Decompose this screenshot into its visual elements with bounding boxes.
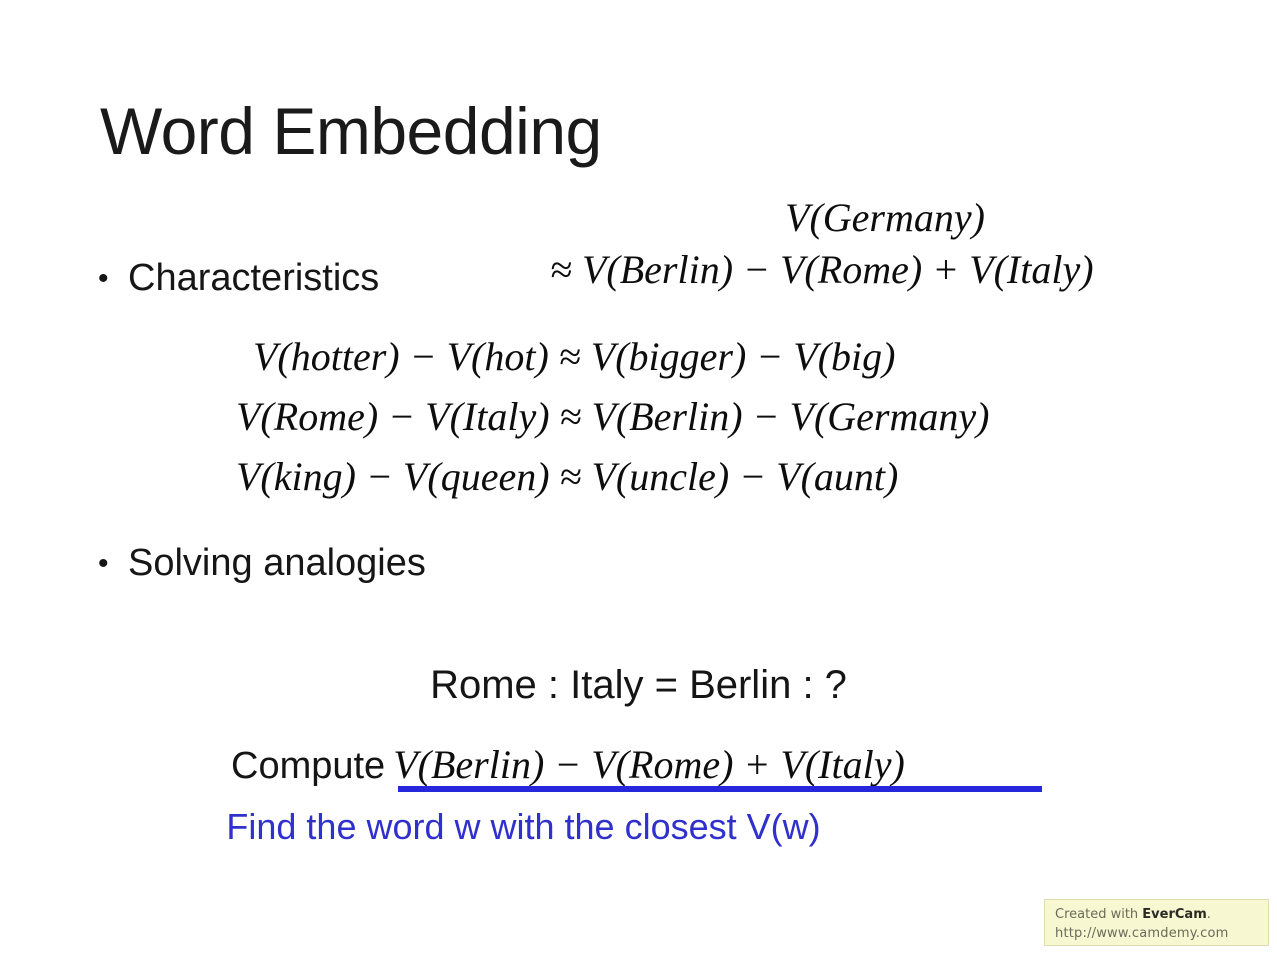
page-title: Word Embedding — [100, 97, 602, 166]
equation-germany-rhs: ≈ V(Berlin) − V(Rome) + V(Italy) — [540, 244, 1230, 296]
equation-king-queen: V(king) − V(queen) ≈ V(uncle) − V(aunt) — [236, 457, 898, 497]
find-word-hint: Find the word w with the closest V(w) — [0, 806, 1277, 848]
equation-germany-lhs: V(Germany) — [540, 192, 1230, 244]
equation-hotter-hot: V(hotter) − V(hot) ≈ V(bigger) − V(big) — [253, 337, 895, 377]
compute-row: ComputeV(Berlin) − V(Rome) + V(Italy) — [231, 745, 905, 785]
bullet-label-solving-analogies: Solving analogies — [128, 542, 426, 584]
slide-canvas: Word Embedding •Characteristics V(German… — [0, 0, 1277, 959]
compute-label: Compute — [231, 745, 385, 787]
compute-formula: V(Berlin) − V(Rome) + V(Italy) — [393, 742, 905, 787]
evercam-watermark: Created with EverCam. http://www.camdemy… — [1044, 899, 1269, 946]
watermark-brand: EverCam — [1142, 907, 1206, 922]
bullet-marker-icon: • — [98, 547, 128, 580]
watermark-prefix: Created with — [1055, 907, 1142, 922]
watermark-url: http://www.camdemy.com — [1055, 924, 1260, 943]
equation-rome-italy: V(Rome) − V(Italy) ≈ V(Berlin) − V(Germa… — [236, 397, 989, 437]
bullet-marker-icon: • — [98, 262, 128, 295]
compute-underline — [398, 786, 1042, 792]
bullet-item-characteristics: •Characteristics — [98, 258, 379, 300]
analogy-question: Rome : Italy = Berlin : ? — [0, 663, 1277, 708]
germany-equation-block: V(Germany) ≈ V(Berlin) − V(Rome) + V(Ita… — [540, 192, 1230, 296]
watermark-suffix: . — [1207, 907, 1211, 922]
bullet-label-characteristics: Characteristics — [128, 257, 379, 299]
bullet-item-solving-analogies: •Solving analogies — [98, 543, 426, 585]
